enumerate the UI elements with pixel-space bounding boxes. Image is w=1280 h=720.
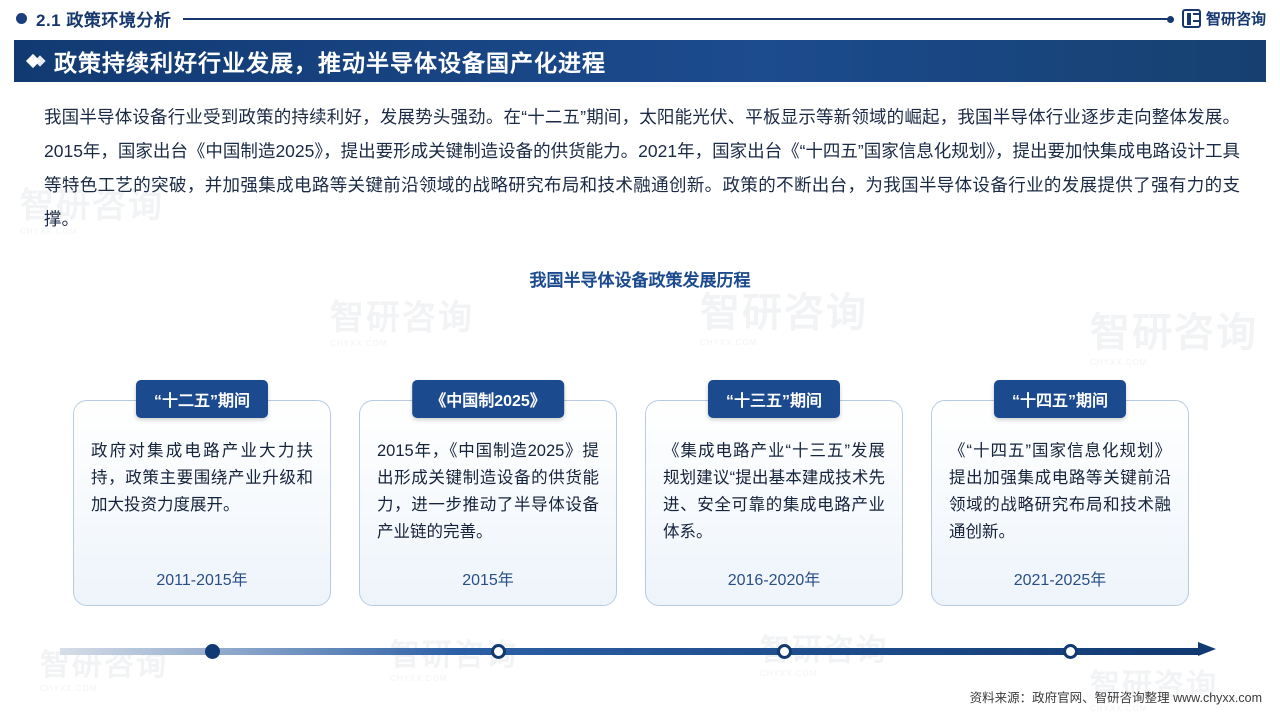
timeline-node-3 (777, 644, 792, 659)
timeline-card-4: “十四五”期间 《“十四五”国家信息化规划》提出加强集成电路等关键前沿领域的战略… (931, 380, 1189, 606)
timeline-card-1: “十二五”期间 政府对集成电路产业大力扶持，政策主要围绕产业升级和加大投资力度展… (73, 380, 331, 606)
brand-name: 智研咨询 (1206, 8, 1266, 29)
section-title: 2.1 政策环境分析 (36, 6, 171, 31)
timeline-card-2-badge: 《中国制2025》 (412, 380, 564, 418)
source-footer: 资料来源：政府官网、智研咨询整理 www.chyxx.com (970, 687, 1262, 706)
timeline-card-3-badge: “十三五”期间 (708, 380, 840, 418)
timeline-card-1-badge: “十二五”期间 (136, 380, 268, 418)
timeline-node-2 (491, 644, 506, 659)
slide-header: 2.1 政策环境分析 智研咨询 (0, 0, 1280, 36)
timeline-card-2-body: 2015年，《中国制造2025》提出形成关键制造设备的供货能力，进一步推动了半导… (377, 438, 599, 546)
timeline-card-1-body: 政府对集成电路产业大力扶持，政策主要围绕产业升级和加大投资力度展开。 (91, 438, 313, 519)
timeline-cards: “十二五”期间 政府对集成电路产业大力扶持，政策主要围绕产业升级和加大投资力度展… (0, 356, 1280, 616)
brand-mark-icon (1182, 9, 1201, 28)
timeline-node-1 (205, 644, 220, 659)
chart-title: 我国半导体设备政策发展历程 (0, 266, 1280, 291)
timeline-card-4-badge: “十四五”期间 (994, 380, 1126, 418)
timeline-card-3-body: 《集成电路产业“十三五”发展规划建议“提出基本建成技术先进、安全可靠的集成电路产… (663, 438, 885, 546)
timeline-card-1-years: 2011-2015年 (73, 566, 331, 590)
brand-logo: 智研咨询 (1182, 8, 1266, 29)
headline-bar: 政策持续利好行业发展，推动半导体设备国产化进程 (14, 40, 1266, 82)
header-bullet-icon (16, 13, 27, 24)
body-paragraph: 我国半导体设备行业受到政策的持续利好，发展势头强劲。在“十二五”期间，太阳能光伏… (44, 100, 1240, 236)
timeline-card-3-years: 2016-2020年 (645, 566, 903, 590)
slide-page: 智研咨询CHYXX.COM智研咨询CHYXX.COM智研咨询CHYXX.COM智… (0, 0, 1280, 720)
timeline-card-4-years: 2021-2025年 (931, 566, 1189, 590)
header-divider-line (183, 18, 1170, 20)
timeline-axis-bar (60, 648, 1200, 655)
timeline-card-3: “十三五”期间 《集成电路产业“十三五”发展规划建议“提出基本建成技术先进、安全… (645, 380, 903, 606)
diamond-bullet-icon (28, 56, 44, 66)
timeline-axis-arrow-icon (1198, 642, 1216, 656)
timeline-axis (60, 645, 1230, 659)
timeline-node-4 (1063, 644, 1078, 659)
watermark-2: 智研咨询CHYXX.COM (330, 290, 474, 348)
headline-text: 政策持续利好行业发展，推动半导体设备国产化进程 (54, 44, 606, 78)
timeline-card-4-body: 《“十四五”国家信息化规划》提出加强集成电路等关键前沿领域的战略研究布局和技术融… (949, 438, 1171, 546)
timeline-card-2-years: 2015年 (359, 566, 617, 590)
timeline-card-2: 《中国制2025》 2015年，《中国制造2025》提出形成关键制造设备的供货能… (359, 380, 617, 606)
